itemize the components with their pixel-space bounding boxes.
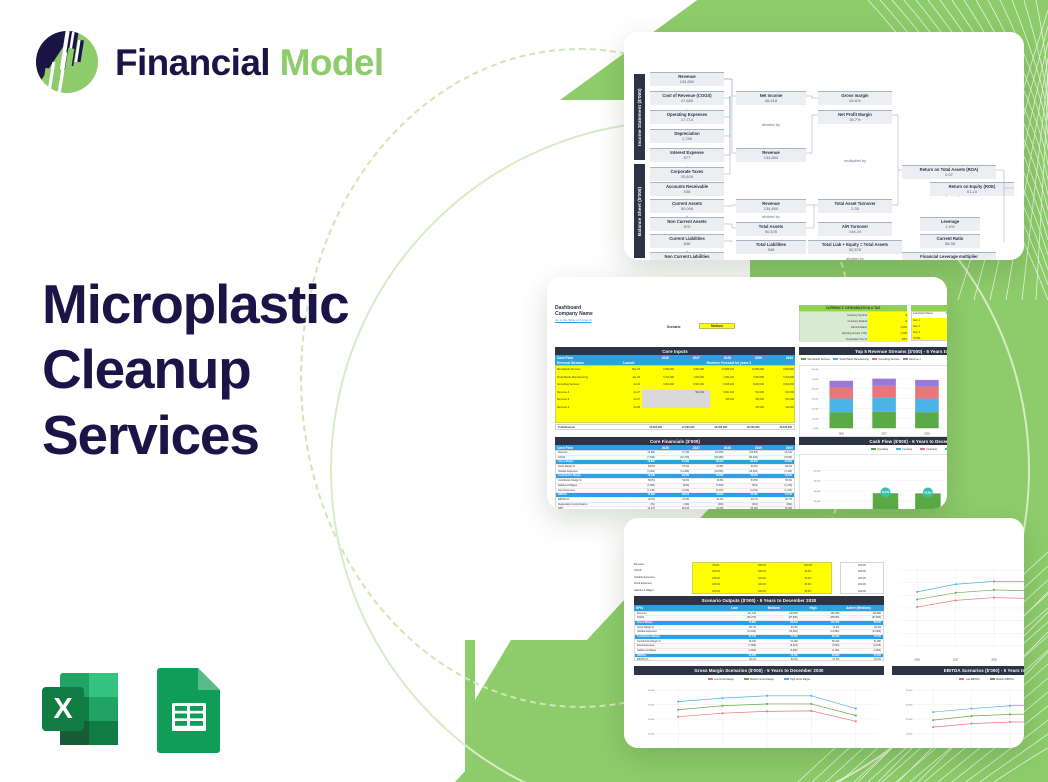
row-value: 31,800 [623, 451, 657, 455]
node-non-current-liabilities: Non Current Liabilities109 [650, 252, 724, 260]
node-return-on-total-assets: Return on Total Assets (ROA)0.97 [902, 165, 996, 179]
row-label: Gross Margin [558, 460, 623, 464]
table-title-core-financials: Core Financials ($'000) [555, 437, 795, 445]
node-opex: Operating Expenses17,714 [650, 110, 724, 124]
svg-text:20,000: 20,000 [814, 501, 821, 503]
chart-svg: 202620272028202920305,00010,00015,00020,… [892, 684, 1024, 748]
row-label: COGS [637, 616, 716, 620]
row-value: 48,190 [716, 640, 758, 644]
chart-revenue-scenarios: 202620272028202920305,00010,00015,00020,… [892, 562, 1024, 662]
row-value: 121,130 [716, 612, 758, 616]
node-cogs: Cost of Revenue (COGS)47,680 [650, 91, 724, 105]
row-value: 75,760 [758, 635, 800, 639]
operator-multiplied-by-1: multiplied by [818, 158, 892, 163]
svg-text:30,000: 30,000 [814, 491, 821, 493]
svg-text:50,000: 50,000 [814, 471, 821, 473]
row-value: 58,190 [800, 640, 842, 644]
svg-text:1,000: 1,000 [813, 428, 819, 430]
row-value: (4,911) [725, 489, 759, 493]
page-title-line-3: Services [42, 403, 462, 468]
row-label: EBITDA % [637, 658, 716, 660]
row-value: (390) [691, 503, 725, 507]
row-value: 95,830 [800, 654, 842, 658]
row-value: (8,015) [841, 644, 883, 648]
chart-revenue-streams: 202620272028202920301,00015,00025,00035,… [799, 365, 947, 437]
row-value: (3,800) [841, 649, 883, 653]
row-label: COGS [558, 456, 623, 460]
row-value: 88,150 [800, 635, 842, 639]
row-value: 146,800 [758, 612, 800, 616]
row-value: (4,107) [691, 489, 725, 493]
chart-title-revenue-streams: Top 5 Revenue Streams ($'000) - 5 Years … [799, 347, 947, 355]
row-label: Salaries & Wages [637, 649, 716, 653]
row-value: 58,890 [691, 474, 725, 478]
chart-svg: 202620272028202920301,00015,00025,00035,… [800, 366, 947, 436]
row-value: 20,395 [760, 460, 794, 464]
node-return-on-equity: Return on Equity (ROE)61.23 [930, 182, 1014, 196]
section-label-income-statement: Income Statement ($'000) [634, 74, 645, 160]
svg-text:15,000: 15,000 [648, 719, 655, 721]
currency-row-4: Corporation Tax % [801, 337, 867, 343]
node-total-liabilities: Total Liabilities948 [736, 240, 806, 254]
row-value: 52.6% [657, 479, 691, 483]
row-value: 32.0% [691, 498, 725, 502]
row-label: Variable Expenses [637, 630, 716, 634]
row-value: (3,180) [800, 649, 842, 653]
row-label: Variable Expenses [558, 470, 623, 474]
page-title: Microplastic Cleanup Services [42, 272, 462, 468]
row-value: 134,800 [691, 451, 725, 455]
row-value: 54,300 [657, 460, 691, 464]
row-value: (7,800) [691, 484, 725, 488]
core-inputs-total-row: Total Revenue 20,600,000 27,800,000 29,4… [555, 424, 795, 430]
row-value: 57,710 [716, 635, 758, 639]
ci-launch-4[interactable]: Jul-27 [614, 396, 640, 404]
ci-launch-3[interactable]: Jul-27 [614, 389, 640, 397]
row-value: (87,800) [841, 616, 883, 620]
row-label: Contribution Margin % [637, 640, 716, 644]
node-revenue: Revenue134,800 [650, 72, 724, 86]
row-label: Contribution Margin [637, 635, 716, 639]
brand-wordmark: Financial Model [115, 44, 384, 81]
row-value: 60.9% [725, 465, 759, 469]
row-value: 60.4% [758, 626, 800, 630]
chart-title-gross-margin-scenarios: Gross Margin Scenarios ($'000) - 5 Years… [634, 666, 884, 675]
row-value: 38,036 [657, 474, 691, 478]
chart-title-ebitda-scenarios: EBITDA Scenarios ($'000) - 5 Years to De… [892, 666, 1024, 675]
row-value: 146,800 [841, 612, 883, 616]
svg-text:35,000: 35,000 [812, 399, 819, 401]
row-value: 69.6% [760, 465, 794, 469]
svg-text:25,000: 25,000 [812, 408, 819, 410]
currency-val-4[interactable]: 30% [869, 337, 907, 343]
chart-title-cash-flow: Cash Flow ($'000) - 5 Years to December … [799, 437, 947, 445]
row-label: EBITDA [637, 654, 716, 658]
row-label: EBITDA [558, 493, 623, 497]
row-value: 29,310 [760, 451, 794, 455]
row-value: (1,800) [623, 484, 657, 488]
row-value: 52.0% [841, 658, 883, 660]
row-value: 18,910 [760, 474, 794, 478]
row-value: (931) [725, 484, 759, 488]
row-value: (11,998) [657, 470, 691, 474]
chart-legend-cash-flow: Operating Investing Financing Net Cash F… [799, 445, 947, 453]
row-value: 67.0% [657, 465, 691, 469]
row-value: 69.8% [623, 465, 657, 469]
row-value: (3,402) [623, 470, 657, 474]
row-value: (13,960) [758, 630, 800, 634]
row-value: 43,690 [691, 493, 725, 497]
row-value: 15,360 [760, 507, 794, 509]
core-inputs-body[interactable]: Microplastic Services Small Plastic Manu… [555, 365, 795, 423]
row-value: 67.0% [800, 658, 842, 660]
page-title-line-2: Cleanup [42, 337, 462, 402]
scenario-assumption-table[interactable]: Revenue COGS Variable Expenses Fixed Exp… [634, 562, 884, 594]
row-label: Salaries & Wages [558, 484, 623, 488]
row-value: 75,700 [758, 654, 800, 658]
node-total-asset-turnover: Total Asset Turnover2.35 [818, 199, 892, 213]
row-value: 58.7% [716, 626, 758, 630]
node-corporate-taxes: Corporate Taxes20,626 [650, 167, 724, 181]
row-value: 42.7% [760, 498, 794, 502]
row-value: (13,180) [716, 630, 758, 634]
table-title-scenario-outputs: Scenario Outputs ($'000) - 5 Years to De… [634, 596, 884, 605]
row-value: (4,840) [716, 649, 758, 653]
panel-currency: Currency Symbol Currency Default Denomin… [799, 311, 907, 341]
chart-ebitda-scenarios: 202620272028202920305,00010,00015,00020,… [892, 684, 1024, 748]
row-value: (190) [657, 503, 691, 507]
file-format-icons: X [38, 665, 224, 753]
ratio-tree-sheet: Income Statement ($'000) Balance Sheet (… [632, 60, 1018, 242]
row-value: 77,040 [657, 451, 691, 455]
row-label: Fixed Expenses [637, 644, 716, 648]
node-ar-turnover: A/R Turnover144.24 [818, 222, 892, 236]
row-value: 19,338 [623, 474, 657, 478]
svg-text:20,250: 20,250 [882, 491, 890, 494]
row-value: 43,290 [691, 507, 725, 509]
row-value: 75,760 [841, 635, 883, 639]
node-revenue-3: Revenue134,800 [736, 199, 806, 213]
scenario-outputs-body: Revenue121,130146,800180,480146,800COGS(… [634, 611, 884, 661]
row-value: 80,520 [691, 460, 725, 464]
svg-text:20,000: 20,000 [648, 705, 655, 707]
row-value: (7,800) [716, 644, 758, 648]
node-leverage: Leverage1.9% [920, 217, 980, 231]
svg-text:2026: 2026 [915, 659, 921, 662]
row-value: (7,840) [800, 644, 842, 648]
row-value: 56.8% [623, 479, 657, 483]
chart-svg: 20262027202820292030(10,000)1,00010,0002… [800, 455, 947, 509]
ci-launch-2[interactable]: Jul-26 [614, 381, 640, 389]
node-current-ratio: Current Ratio58.98 [920, 234, 980, 248]
chart-legend-gross-margin-scenarios: Low Gross Margin Medium Gross Margin Hig… [634, 675, 884, 683]
row-value: 107,100 [800, 621, 842, 625]
sa-row-4: Salaries & Wages [634, 588, 690, 594]
row-label: Gross Margin [637, 621, 716, 625]
row-value: (54,280) [691, 456, 725, 460]
row-value: 80,500 [758, 621, 800, 625]
node-total-assets: Total Assets50,576 [736, 222, 806, 236]
row-value: (12,960) [725, 470, 759, 474]
row-label: Gross Margin % [637, 626, 716, 630]
node-interest-expense: Interest Expense577 [650, 148, 724, 162]
row-value: 28,106 [657, 493, 691, 497]
svg-text:10,000: 10,000 [648, 734, 655, 736]
svg-text:20,000: 20,000 [906, 705, 913, 707]
panel-debt: Loan/Grant Name Amount ($) Granted Term … [911, 311, 947, 341]
row-label: EBIT [558, 507, 623, 509]
row-value: (3,249) [657, 489, 691, 493]
row-value: (391) [725, 503, 759, 507]
svg-text:2026: 2026 [839, 434, 845, 436]
table-row: EBITDA %60.2%52.0%67.0%52.0% [635, 658, 883, 660]
dashboard-subtitle: Company Name [555, 311, 635, 317]
table-title-core-inputs: Core Inputs [555, 347, 795, 355]
row-value: 52,085 [716, 654, 758, 658]
row-value: 49.8% [691, 479, 725, 483]
financial-model-circle-logo [33, 28, 101, 96]
row-value: (391) [760, 503, 794, 507]
svg-text:45,000: 45,000 [812, 389, 819, 391]
svg-text:15,000: 15,000 [812, 418, 819, 420]
row-label: Depreciation & Amortisation [558, 503, 623, 507]
svg-text:25,000: 25,000 [906, 690, 913, 692]
row-value: (13,980) [800, 630, 842, 634]
svg-text:25,000: 25,000 [648, 690, 655, 692]
row-value: 45,766 [725, 493, 759, 497]
svg-text:2027: 2027 [953, 659, 959, 662]
row-value: (87,800) [758, 616, 800, 620]
microsoft-excel-icon[interactable]: X [38, 665, 126, 753]
row-label: EBITDA % [558, 498, 623, 502]
row-value: 53.8% [725, 479, 759, 483]
operator-divided-by-2: divided by [736, 214, 806, 219]
dashboard-sheet: Dashboard Company Name Go to the Table o… [547, 277, 947, 509]
row-label: Contribution Margin % [558, 479, 623, 483]
row-value: (54,200) [725, 456, 759, 460]
row-value: (5,80) [657, 484, 691, 488]
chart-cash-flow: 20262027202820292030(10,000)1,00010,0002… [799, 454, 947, 509]
row-value: 23,860 [623, 460, 657, 464]
row-value: 134,500 [725, 451, 759, 455]
row-value: (3,800) [758, 649, 800, 653]
row-value: 52.0% [758, 658, 800, 660]
row-value: (8,915) [760, 456, 794, 460]
operator-divided-by-3: divided by [818, 256, 892, 260]
table-row: EBIT12,37228,10643,29045,24915,360 [556, 507, 794, 509]
row-value: (51) [623, 503, 657, 507]
core-financials-body: Revenue31,80077,040134,800134,50029,310C… [555, 450, 795, 509]
row-value: (13,960) [841, 630, 883, 634]
row-value: 51,280 [841, 640, 883, 644]
ci-launch-0[interactable]: Mar-26 [614, 366, 640, 374]
svg-text:2027: 2027 [881, 434, 887, 436]
promo-slide: Financial Model Microplastic Cleanup Ser… [0, 0, 1048, 782]
svg-text:2028: 2028 [924, 434, 930, 436]
chart-svg: 202620272028202920305,00010,00015,00020,… [634, 684, 884, 748]
row-value: (1,240) [623, 489, 657, 493]
chart-legend-ebitda-scenarios: Low EBITDA Medium EBITDA High EBITDA [892, 675, 1024, 683]
svg-text:15,000: 15,000 [906, 719, 913, 721]
brand-word-model: Model [280, 42, 384, 83]
scenario-value-input[interactable]: Medium [699, 323, 735, 329]
page-title-line-1: Microplastic [42, 272, 462, 337]
row-value: 45,249 [725, 507, 759, 509]
brand-logo[interactable]: Financial Model [33, 28, 384, 96]
row-value: 37.3% [657, 498, 691, 502]
node-financial-leverage-multiplier: Financial Leverage multiplier60.22 [902, 252, 996, 260]
preview-card-scenarios[interactable]: Revenue COGS Variable Expenses Fixed Exp… [624, 518, 1024, 748]
row-value: (8,015) [758, 644, 800, 648]
row-value: 70,800 [716, 621, 758, 625]
table-of-contents-link[interactable]: Go to the Table of Contents [555, 318, 635, 322]
ci-launch-1[interactable]: Apr-26 [614, 374, 640, 382]
google-sheets-icon[interactable] [154, 665, 224, 753]
row-label: Revenue [558, 451, 623, 455]
brand-word-financial: Financial [115, 42, 280, 83]
scenario-label: Scenario [667, 325, 680, 329]
row-value: (18,890) [691, 470, 725, 474]
svg-text:X: X [53, 693, 73, 725]
node-depreciation: Depreciation1,785 [650, 129, 724, 143]
row-value: (22,740) [657, 456, 691, 460]
row-value: (3,440) [760, 470, 794, 474]
row-value: 80,500 [841, 621, 883, 625]
row-value: (7,940) [623, 456, 657, 460]
svg-text:40,000: 40,000 [814, 481, 821, 483]
node-net-profit-margin: Net Profit Margin35.7% [818, 110, 892, 124]
node-current-assets: Current Assets50,006 [650, 199, 724, 213]
row-value: (1,210) [760, 484, 794, 488]
dashboard-header: Dashboard Company Name Go to the Table o… [555, 305, 635, 322]
debt-row-3: TOTAL [913, 336, 947, 342]
svg-text:10,000: 10,000 [906, 734, 913, 736]
ci-launch-5[interactable]: Jul-28 [614, 404, 640, 412]
row-value: 40.7% [725, 498, 759, 502]
svg-text:2028: 2028 [991, 659, 997, 662]
node-gross-margin: Gross margin64.6% [818, 91, 892, 105]
row-value: 75,700 [841, 654, 883, 658]
svg-text:65,000: 65,000 [812, 369, 819, 371]
svg-text:20,200: 20,200 [924, 491, 932, 494]
row-value: (80,270) [716, 616, 758, 620]
row-value: 60.4% [841, 626, 883, 630]
row-value: 12,372 [623, 507, 657, 509]
chart-legend-revenue-streams: Microplastic Services Small Plastic Manu… [799, 355, 947, 363]
row-value: 60.8% [691, 465, 725, 469]
node-accounts-receivable: Accounts Receivable938 [650, 182, 724, 196]
svg-text:55,000: 55,000 [812, 379, 819, 381]
row-value: 51,280 [758, 640, 800, 644]
section-label-balance-sheet: Balance Sheet ($'000) [634, 164, 645, 258]
row-label: Fixed Expenses [558, 489, 623, 493]
row-value: 180,480 [800, 612, 842, 616]
row-value: (85,050) [800, 616, 842, 620]
node-non-current-assets: Non Current Assets570 [650, 217, 724, 231]
row-value: 60.2% [716, 658, 758, 660]
operator-divided-by-1: divided by [736, 122, 806, 127]
node-net-income: Net Income46,418 [736, 91, 806, 105]
row-value: 56.5% [760, 479, 794, 483]
preview-card-ratio-tree[interactable]: Income Statement ($'000) Balance Sheet (… [624, 32, 1024, 260]
row-value: 80,300 [725, 460, 759, 464]
row-value: 28,106 [657, 507, 691, 509]
row-value: (1,240) [760, 489, 794, 493]
row-value: 59,006 [725, 474, 759, 478]
row-value: 14,716 [760, 493, 794, 497]
node-revenue-2: Revenue134,800 [736, 148, 806, 162]
row-value: 12,596 [623, 493, 657, 497]
row-label: Contribution Margin [558, 474, 623, 478]
row-label: Revenue [637, 612, 716, 616]
row-value: 40.5% [623, 498, 657, 502]
chart-svg: 202620272028202920305,00010,00015,00020,… [892, 562, 1024, 662]
chart-gross-margin-scenarios: 202620272028202920305,00010,00015,00020,… [634, 684, 884, 748]
preview-card-dashboard[interactable]: Dashboard Company Name Go to the Table o… [547, 277, 947, 509]
scenario-sheet: Revenue COGS Variable Expenses Fixed Exp… [624, 518, 1024, 748]
node-total-liab-equity: Total Liab + Equity = Total Assets50,576 [808, 240, 902, 254]
node-current-liabilities: Current Liabilities848 [650, 234, 724, 248]
row-value: 71.4% [800, 626, 842, 630]
row-label: Gross Margin % [558, 465, 623, 469]
